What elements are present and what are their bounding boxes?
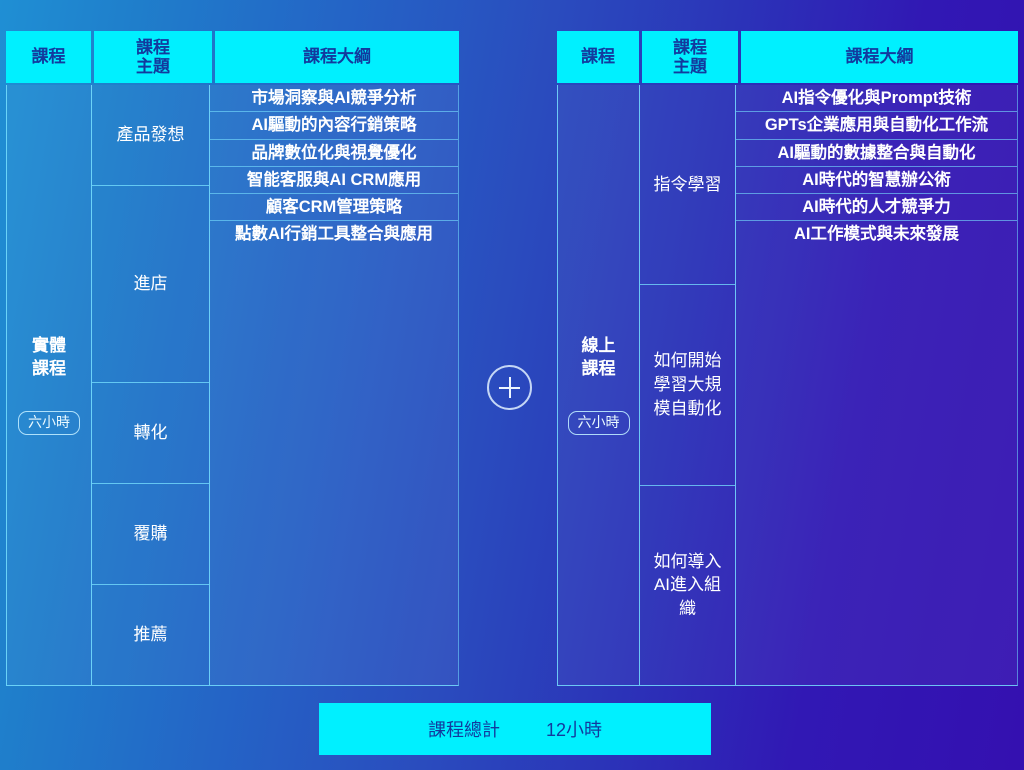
hours-badge-onsite: 六小時 [18,411,80,435]
course-name-online: 線上 課程 [582,335,616,381]
course-cell-online: 線上 課程 六小時 [558,85,640,685]
topic-cell: 進店 [92,186,209,383]
header-topic-online: 課程 主題 [642,31,738,83]
header-outline-onsite: 課程大綱 [215,31,459,83]
outline-column-onsite: 市場洞察與AI競爭分析 AI驅動的內容行銷策略 品牌數位化與視覺優化 智能客服與… [210,85,458,685]
header-topic-onsite: 課程 主題 [94,31,212,83]
course-table-online: 課程 課程 主題 課程大綱 線上 課程 六小時 指令學習 如何開始 學習大規 模… [557,31,1018,686]
course-total-label: 課程總計 [428,716,500,742]
topic-column-onsite: 產品發想 進店 轉化 覆購 推薦 [92,85,210,685]
topic-cell: 產品發想 [92,85,209,186]
table-body-onsite: 實體 課程 六小時 產品發想 進店 轉化 覆購 推薦 市場洞察與AI競爭分析 A… [6,85,459,686]
outline-cell: 智能客服與AI CRM應用 [210,167,458,194]
outline-cell: AI指令優化與Prompt技術 [736,85,1017,112]
header-course-online: 課程 [557,31,639,83]
outline-cell: GPTs企業應用與自動化工作流 [736,112,1017,139]
outline-cell: 品牌數位化與視覺優化 [210,140,458,167]
table-body-online: 線上 課程 六小時 指令學習 如何開始 學習大規 模自動化 如何導入 AI進入組… [557,85,1018,686]
topic-cell: 推薦 [92,585,209,685]
topic-cell: 覆購 [92,484,209,585]
course-total-bar: 課程總計 12小時 [319,703,711,755]
outline-cell: AI時代的智慧辦公術 [736,167,1017,194]
topic-cell: 如何導入 AI進入組 織 [640,486,735,685]
table-header-row-online: 課程 課程 主題 課程大綱 [557,31,1018,83]
course-total-value: 12小時 [546,716,602,742]
hours-badge-online: 六小時 [568,411,630,435]
course-name-onsite: 實體 課程 [32,335,66,381]
outline-column-online: AI指令優化與Prompt技術 GPTs企業應用與自動化工作流 AI驅動的數據整… [736,85,1017,685]
header-outline-online: 課程大綱 [741,31,1018,83]
outline-cell: AI時代的人才競爭力 [736,194,1017,221]
slide-canvas: 課程 課程 主題 課程大綱 實體 課程 六小時 產品發想 進店 轉化 覆購 推薦… [0,0,1024,770]
course-cell-onsite: 實體 課程 六小時 [7,85,92,685]
outline-cell: AI驅動的數據整合與自動化 [736,140,1017,167]
course-table-onsite: 課程 課程 主題 課程大綱 實體 課程 六小時 產品發想 進店 轉化 覆購 推薦… [6,31,459,686]
header-course-onsite: 課程 [6,31,91,83]
outline-cell: 顧客CRM管理策略 [210,194,458,221]
outline-cell: 點數AI行銷工具整合與應用 [210,221,458,247]
topic-cell: 指令學習 [640,85,735,285]
topic-cell: 轉化 [92,383,209,484]
outline-cell: 市場洞察與AI競爭分析 [210,85,458,112]
table-header-row-onsite: 課程 課程 主題 課程大綱 [6,31,459,83]
outline-cell: AI工作模式與未來發展 [736,221,1017,247]
topic-column-online: 指令學習 如何開始 學習大規 模自動化 如何導入 AI進入組 織 [640,85,736,685]
topic-cell: 如何開始 學習大規 模自動化 [640,285,735,485]
plus-icon [487,365,532,410]
plus-icon-vertical-bar [509,377,512,398]
outline-cell: AI驅動的內容行銷策略 [210,112,458,139]
